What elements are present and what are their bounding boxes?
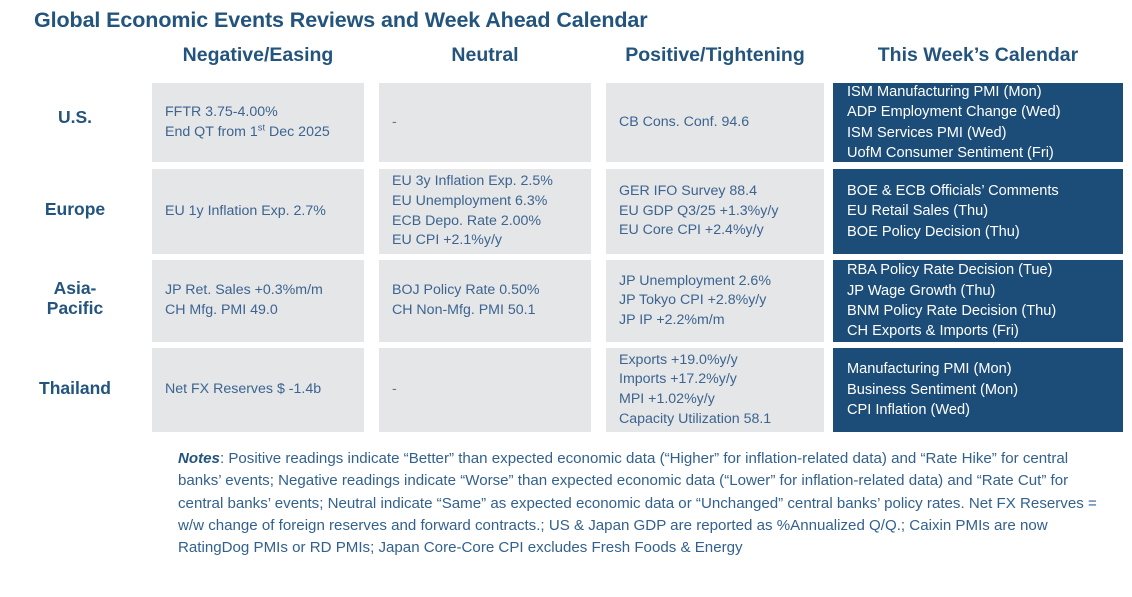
cell-line: EU Retail Sales (Thu)	[847, 201, 1111, 221]
cell-line: ISM Services PMI (Wed)	[847, 123, 1111, 143]
cell-asia-neutral: BOJ Policy Rate 0.50% CH Non-Mfg. PMI 50…	[379, 260, 591, 342]
cell-line: CPI Inflation (Wed)	[847, 400, 1111, 420]
cell-line: ECB Depo. Rate 2.00%	[392, 212, 579, 232]
table-row: Thailand Net FX Reserves $ -1.4b - Expor…	[0, 345, 1132, 435]
cell-us-negative: FFTR 3.75-4.00% End QT from 1st Dec 2025	[152, 83, 364, 162]
table-row: U.S. FFTR 3.75-4.00% End QT from 1st Dec…	[0, 80, 1132, 166]
cell-line: Net FX Reserves $ -1.4b	[165, 380, 352, 400]
cell-line: Capacity Utilization 58.1	[619, 410, 812, 430]
cell-line: CB Cons. Conf. 94.6	[619, 113, 812, 133]
cell-asia-calendar: RBA Policy Rate Decision (Tue) JP Wage G…	[833, 260, 1123, 342]
cell-line: ISM Manufacturing PMI (Mon)	[847, 82, 1111, 102]
cell-line: CH Non-Mfg. PMI 50.1	[392, 301, 579, 321]
cell-line: RBA Policy Rate Decision (Tue)	[847, 260, 1111, 280]
cell-line: FFTR 3.75-4.00%	[165, 103, 352, 123]
cell-line: EU 3y Inflation Exp. 2.5%	[392, 172, 579, 192]
cell-line: JP Unemployment 2.6%	[619, 272, 812, 292]
cell-line: ADP Employment Change (Wed)	[847, 102, 1111, 122]
cell-line: Imports +17.2%y/y	[619, 370, 812, 390]
cell-thailand-calendar: Manufacturing PMI (Mon) Business Sentime…	[833, 348, 1123, 432]
cell-asia-positive: JP Unemployment 2.6% JP Tokyo CPI +2.8%y…	[606, 260, 824, 342]
cell-line: BOE & ECB Officials’ Comments	[847, 181, 1111, 201]
cell-us-positive: CB Cons. Conf. 94.6	[606, 83, 824, 162]
cell-line: -	[392, 113, 579, 133]
row-label-us: U.S.	[0, 108, 150, 128]
row-label-thailand: Thailand	[0, 379, 150, 399]
cell-line: MPI +1.02%y/y	[619, 390, 812, 410]
cell-line: JP Tokyo CPI +2.8%y/y	[619, 291, 812, 311]
cell-europe-positive: GER IFO Survey 88.4 EU GDP Q3/25 +1.3%y/…	[606, 169, 824, 254]
row-label-asia-pacific: Asia- Pacific	[0, 279, 150, 318]
cell-line: JP Wage Growth (Thu)	[847, 281, 1111, 301]
cell-line: JP IP +2.2%m/m	[619, 311, 812, 331]
page-title: Global Economic Events Reviews and Week …	[34, 8, 648, 33]
cell-line: Manufacturing PMI (Mon)	[847, 359, 1111, 379]
notes-label: Notes	[178, 450, 220, 467]
cell-asia-negative: JP Ret. Sales +0.3%m/m CH Mfg. PMI 49.0	[152, 260, 364, 342]
row-label-europe: Europe	[0, 200, 150, 220]
grid-header-row: Negative/Easing Neutral Positive/Tighten…	[0, 44, 1132, 80]
row-label-line: Asia-	[0, 279, 150, 299]
column-header-calendar: This Week’s Calendar	[833, 44, 1123, 67]
cell-line: CH Mfg. PMI 49.0	[165, 301, 352, 321]
column-header-negative: Negative/Easing	[152, 44, 364, 67]
cell-line: End QT from 1st Dec 2025	[165, 123, 352, 143]
cell-europe-negative: EU 1y Inflation Exp. 2.7%	[152, 169, 364, 254]
cell-europe-neutral: EU 3y Inflation Exp. 2.5% EU Unemploymen…	[379, 169, 591, 254]
row-label-line: Pacific	[0, 299, 150, 319]
cell-europe-calendar: BOE & ECB Officials’ Comments EU Retail …	[833, 169, 1123, 254]
cell-us-calendar: ISM Manufacturing PMI (Mon) ADP Employme…	[833, 83, 1123, 162]
cell-line: GER IFO Survey 88.4	[619, 182, 812, 202]
cell-line: EU GDP Q3/25 +1.3%y/y	[619, 202, 812, 222]
notes-text: : Positive readings indicate “Better” th…	[178, 450, 1097, 556]
cell-line: EU CPI +2.1%y/y	[392, 231, 579, 251]
notes-block: Notes: Positive readings indicate “Bette…	[178, 448, 1108, 559]
cell-line: JP Ret. Sales +0.3%m/m	[165, 281, 352, 301]
column-header-neutral: Neutral	[379, 44, 591, 67]
cell-line: CH Exports & Imports (Fri)	[847, 321, 1111, 341]
ordinal-suffix: st	[258, 122, 265, 132]
events-grid: Negative/Easing Neutral Positive/Tighten…	[0, 44, 1132, 435]
cell-thailand-positive: Exports +19.0%y/y Imports +17.2%y/y MPI …	[606, 348, 824, 432]
cell-line: BNM Policy Rate Decision (Thu)	[847, 301, 1111, 321]
calendar-page: Global Economic Events Reviews and Week …	[0, 0, 1132, 597]
cell-line: EU Core CPI +2.4%y/y	[619, 221, 812, 241]
cell-line: Exports +19.0%y/y	[619, 351, 812, 371]
cell-line: -	[392, 380, 579, 400]
cell-line: Business Sentiment (Mon)	[847, 380, 1111, 400]
cell-line: BOE Policy Decision (Thu)	[847, 222, 1111, 242]
cell-line: BOJ Policy Rate 0.50%	[392, 281, 579, 301]
table-row: Asia- Pacific JP Ret. Sales +0.3%m/m CH …	[0, 257, 1132, 345]
cell-line: EU 1y Inflation Exp. 2.7%	[165, 202, 352, 222]
column-header-positive: Positive/Tightening	[606, 44, 824, 67]
cell-line: UofM Consumer Sentiment (Fri)	[847, 143, 1111, 163]
cell-thailand-neutral: -	[379, 348, 591, 432]
table-row: Europe EU 1y Inflation Exp. 2.7% EU 3y I…	[0, 166, 1132, 257]
cell-us-neutral: -	[379, 83, 591, 162]
cell-line: EU Unemployment 6.3%	[392, 192, 579, 212]
cell-thailand-negative: Net FX Reserves $ -1.4b	[152, 348, 364, 432]
